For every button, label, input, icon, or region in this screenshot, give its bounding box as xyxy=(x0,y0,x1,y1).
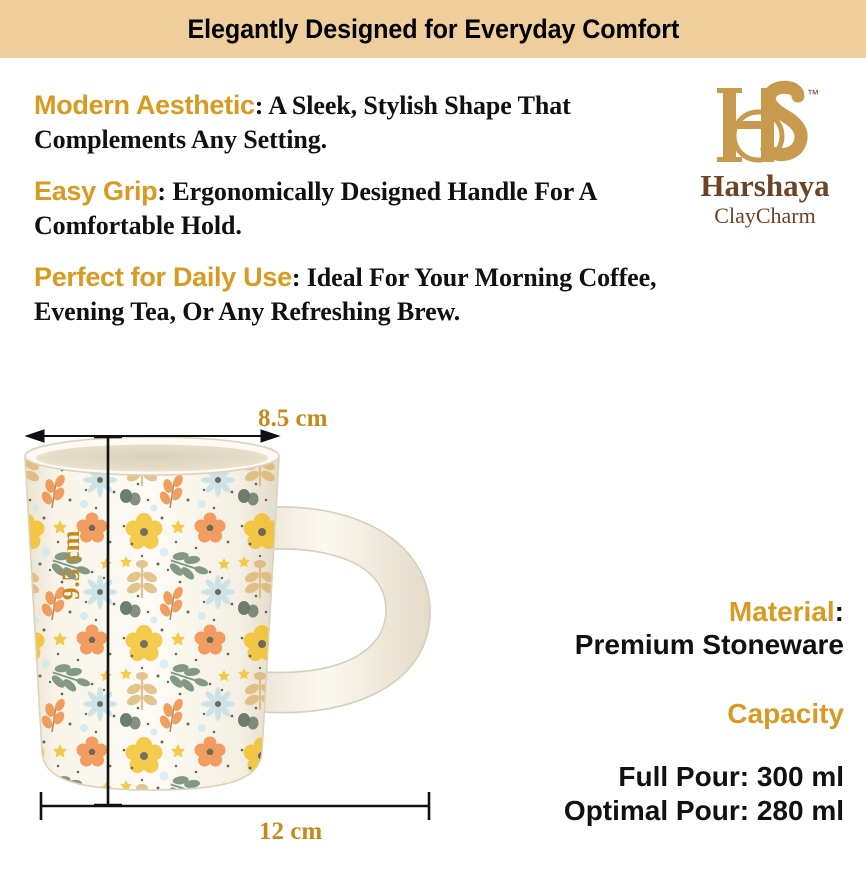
dimension-height-label: 9.5 cm xyxy=(58,531,86,600)
spec-material-heading: Material: xyxy=(494,596,844,628)
mug-svg xyxy=(0,400,560,866)
hs-monogram-icon: ™ xyxy=(672,80,858,168)
feature-item-easy-grip: Easy Grip: Ergonomically Designed Handle… xyxy=(34,174,674,243)
mug-handle xyxy=(255,507,430,713)
header-banner: Elegantly Designed for Everyday Comfort xyxy=(0,0,866,58)
spec-capacity-label: Capacity xyxy=(494,698,844,730)
spec-list: Material: Premium Stoneware Capacity Ful… xyxy=(494,596,844,827)
feature-label: Easy Grip xyxy=(34,176,157,206)
mug-rim xyxy=(25,437,279,475)
mug-body xyxy=(20,436,286,794)
product-illustration xyxy=(0,400,560,866)
svg-text:™: ™ xyxy=(807,87,819,101)
spec-optimal-pour: Optimal Pour: 280 ml xyxy=(494,794,844,828)
floral-pattern xyxy=(20,436,286,794)
feature-label: Perfect for Daily Use xyxy=(34,262,292,292)
dimension-depth-label: 12 cm xyxy=(259,818,322,846)
feature-label: Modern Aesthetic xyxy=(34,90,255,120)
spec-full-pour: Full Pour: 300 ml xyxy=(494,760,844,794)
brand-logo: ™ Harshaya ClayCharm xyxy=(672,80,858,228)
page-title: Elegantly Designed for Everyday Comfort xyxy=(187,14,679,45)
dimension-depth xyxy=(40,792,430,820)
spec-capacity-values: Full Pour: 300 ml Optimal Pour: 280 ml xyxy=(494,760,844,827)
feature-item-modern-aesthetic: Modern Aesthetic: A Sleek, Stylish Shape… xyxy=(34,88,674,157)
feature-list: Modern Aesthetic: A Sleek, Stylish Shape… xyxy=(34,88,674,346)
spec-material-label: Material xyxy=(729,596,835,627)
spec-material-value: Premium Stoneware xyxy=(494,628,844,662)
dimension-width-label: 8.5 cm xyxy=(258,405,327,433)
spec-material-colon: : xyxy=(835,596,844,627)
feature-item-daily-use: Perfect for Daily Use: Ideal For Your Mo… xyxy=(34,260,674,329)
brand-name: Harshaya xyxy=(672,170,858,203)
brand-subname: ClayCharm xyxy=(672,204,858,228)
